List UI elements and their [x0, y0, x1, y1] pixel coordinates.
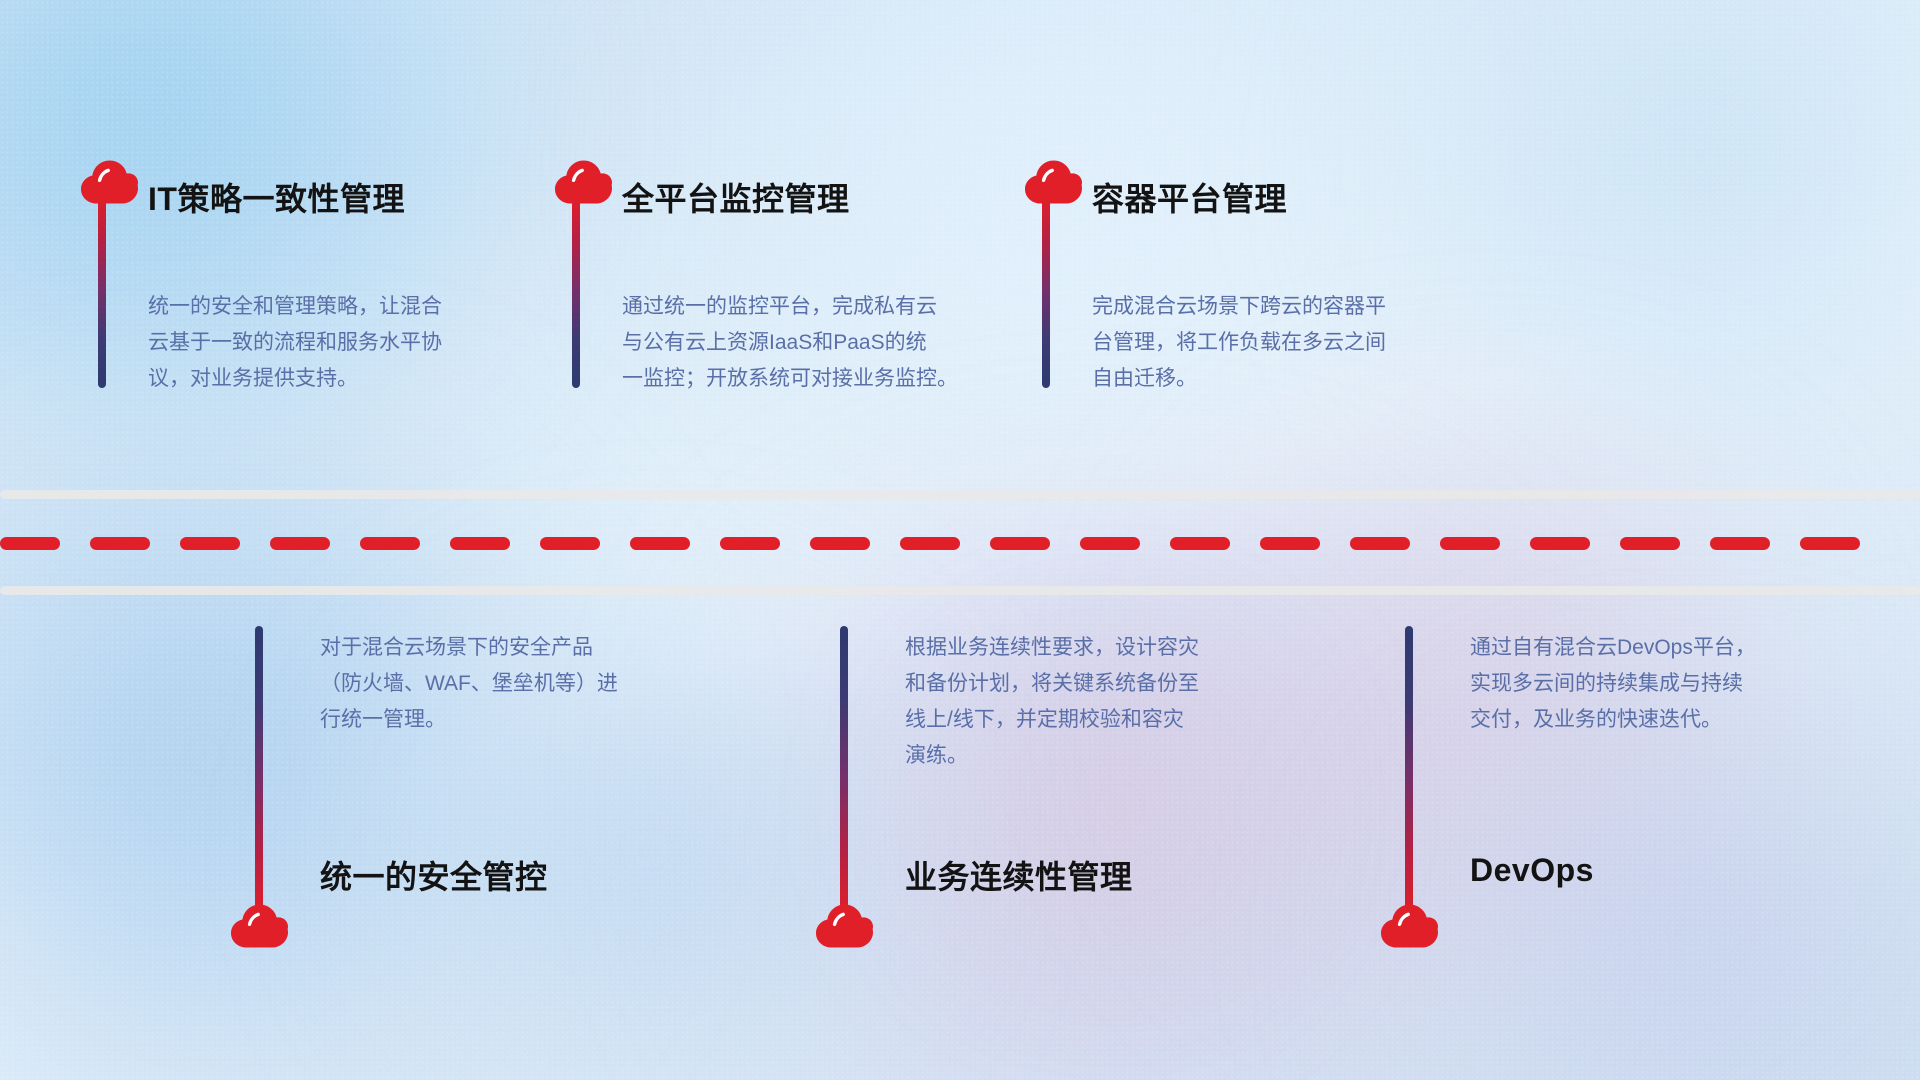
divider-dash	[90, 537, 150, 550]
divider-dash	[360, 537, 420, 550]
divider-dash	[720, 537, 780, 550]
connector-stem	[1405, 626, 1413, 916]
divider-dash	[0, 537, 60, 550]
divider-dash	[270, 537, 330, 550]
section-divider	[0, 490, 1920, 600]
connector-stem	[572, 198, 580, 388]
cloud-icon	[1024, 160, 1082, 204]
divider-rule-top	[0, 490, 1920, 499]
divider-dash	[1170, 537, 1230, 550]
connector-stem	[840, 626, 848, 916]
card-body: 根据业务连续性要求，设计容灾 和备份计划，将关键系统备份至 线上/线下，并定期校…	[905, 630, 1325, 774]
divider-rule-bottom	[0, 586, 1920, 595]
divider-dash	[1800, 537, 1860, 550]
divider-dash	[1440, 537, 1500, 550]
divider-dash	[1710, 537, 1770, 550]
divider-dashed-line	[0, 537, 1920, 550]
card-title: 全平台监控管理	[622, 174, 850, 220]
card-title: DevOps	[1470, 852, 1594, 889]
cloud-icon	[815, 904, 873, 948]
divider-dash	[180, 537, 240, 550]
cloud-icon	[554, 160, 612, 204]
divider-dash	[450, 537, 510, 550]
cloud-icon	[1380, 904, 1438, 948]
connector-stem	[1042, 198, 1050, 388]
divider-dash	[1080, 537, 1140, 550]
card-body: 通过自有混合云DevOps平台， 实现多云间的持续集成与持续 交付，及业务的快速…	[1470, 630, 1880, 738]
divider-dash	[630, 537, 690, 550]
divider-dash	[1260, 537, 1320, 550]
card-body: 通过统一的监控平台，完成私有云 与公有云上资源IaaS和PaaS的统 一监控；开…	[622, 289, 1022, 397]
cloud-icon	[80, 160, 138, 204]
connector-stem	[255, 626, 263, 916]
divider-dash	[810, 537, 870, 550]
divider-dash	[990, 537, 1050, 550]
card-body: 统一的安全和管理策略，让混合 云基于一致的流程和服务水平协 议，对业务提供支持。	[148, 289, 528, 397]
card-body: 完成混合云场景下跨云的容器平 台管理，将工作负载在多云之间 自由迁移。	[1092, 289, 1492, 397]
cloud-icon	[230, 904, 288, 948]
divider-dash	[1350, 537, 1410, 550]
card-title: IT策略一致性管理	[148, 174, 405, 220]
card-body: 对于混合云场景下的安全产品 （防火墙、WAF、堡垒机等）进 行统一管理。	[320, 630, 720, 738]
card-title: 统一的安全管控	[320, 852, 548, 898]
connector-stem	[98, 198, 106, 388]
card-title: 业务连续性管理	[905, 852, 1133, 898]
divider-dash	[1530, 537, 1590, 550]
divider-dash	[900, 537, 960, 550]
divider-dash	[540, 537, 600, 550]
divider-dash	[1620, 537, 1680, 550]
card-title: 容器平台管理	[1092, 174, 1287, 220]
